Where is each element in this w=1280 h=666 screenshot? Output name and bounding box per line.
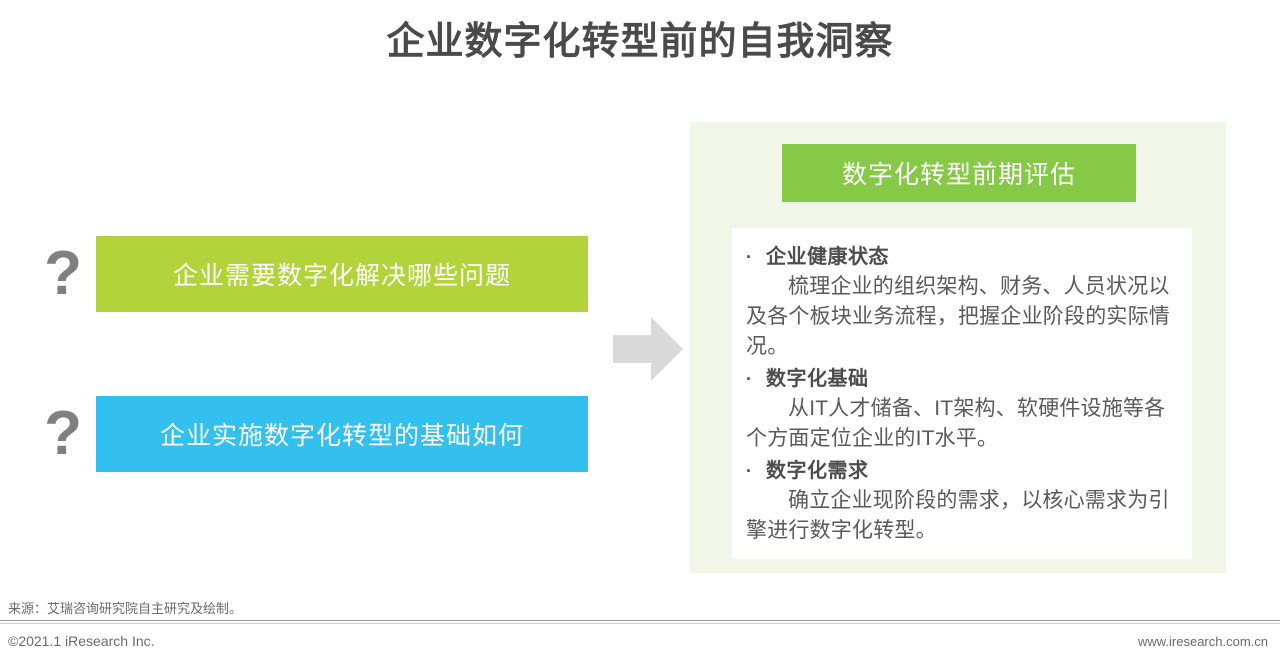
bullet-icon: ·: [746, 364, 766, 394]
question-row-1: ? 企业需要数字化解决哪些问题: [30, 236, 588, 312]
footer-divider-top: [0, 620, 1280, 621]
question-box-1-label: 企业需要数字化解决哪些问题: [173, 256, 511, 292]
list-item-heading: 数字化需求: [766, 456, 869, 486]
list-item-heading-row: · 数字化基础: [746, 364, 1182, 394]
panel-header: 数字化转型前期评估: [782, 144, 1136, 202]
source-note: 来源：艾瑞咨询研究院自主研究及绘制。: [8, 598, 242, 617]
question-mark-icon: ?: [30, 396, 96, 472]
panel-body: · 企业健康状态 梳理企业的组织架构、财务、人员状况以及各个板块业务流程，把握企…: [732, 228, 1192, 559]
website-url: www.iresearch.com.cn: [1138, 634, 1268, 649]
assessment-panel: 数字化转型前期评估 · 企业健康状态 梳理企业的组织架构、财务、人员状况以及各个…: [690, 122, 1226, 573]
list-item-body: 从IT人才储备、IT架构、软硬件设施等各个方面定位企业的IT水平。: [746, 394, 1182, 454]
question-row-2: ? 企业实施数字化转型的基础如何: [30, 396, 588, 472]
panel-header-label: 数字化转型前期评估: [842, 155, 1076, 191]
page-title: 企业数字化转型前的自我洞察: [0, 16, 1280, 68]
list-item-heading-row: · 企业健康状态: [746, 242, 1182, 272]
list-item-heading: 数字化基础: [766, 364, 869, 394]
list-item-body: 确立企业现阶段的需求，以核心需求为引擎进行数字化转型。: [746, 486, 1182, 546]
footer-divider-bottom: [0, 623, 1280, 624]
question-box-1: 企业需要数字化解决哪些问题: [96, 236, 588, 312]
list-item: · 数字化基础 从IT人才储备、IT架构、软硬件设施等各个方面定位企业的IT水平…: [746, 364, 1182, 454]
copyright-text: ©2021.1 iResearch Inc.: [8, 633, 155, 649]
bullet-icon: ·: [746, 456, 766, 486]
list-item-heading: 企业健康状态: [766, 242, 889, 272]
question-box-2-label: 企业实施数字化转型的基础如何: [160, 416, 524, 452]
question-box-2: 企业实施数字化转型的基础如何: [96, 396, 588, 472]
arrow-right-icon: [613, 315, 683, 383]
bullet-icon: ·: [746, 242, 766, 272]
list-item: · 企业健康状态 梳理企业的组织架构、财务、人员状况以及各个板块业务流程，把握企…: [746, 242, 1182, 362]
question-mark-icon: ?: [30, 236, 96, 312]
list-item-body: 梳理企业的组织架构、财务、人员状况以及各个板块业务流程，把握企业阶段的实际情况。: [746, 272, 1182, 362]
list-item-heading-row: · 数字化需求: [746, 456, 1182, 486]
list-item: · 数字化需求 确立企业现阶段的需求，以核心需求为引擎进行数字化转型。: [746, 456, 1182, 546]
